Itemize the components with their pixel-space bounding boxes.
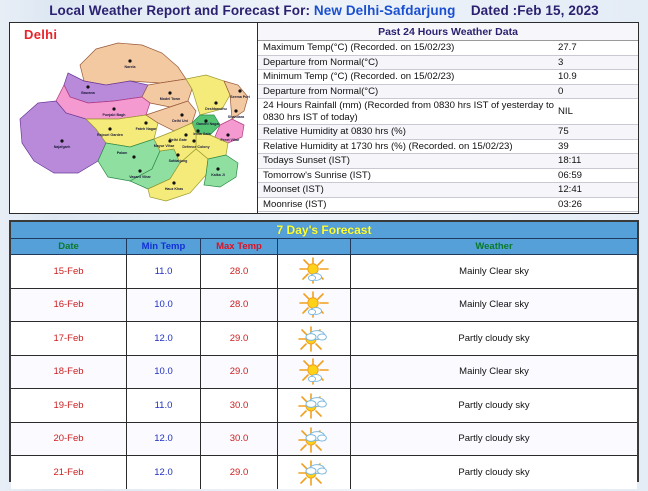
sun-cloud-icon (278, 322, 351, 355)
cell-max-temp: 28.0 (201, 255, 278, 288)
delhi-map-cell: Delhi (10, 23, 258, 213)
row-label: Maximum Temp(°C) (Recorded. on 15/02/23) (258, 41, 554, 55)
column-header-date: Date (11, 239, 127, 254)
cell-min-temp: 10.0 (127, 289, 201, 322)
cell-weather: Partly cloudy sky (351, 322, 637, 355)
row-label: Departure from Normal(°C) (258, 56, 554, 70)
row-value: 18:11 (554, 155, 638, 167)
row-label: Todays Sunset (IST) (258, 154, 554, 168)
table-row: 17-Feb 12.0 29.0 Partly cloudy sky (11, 322, 637, 356)
row-label: Moonset (IST) (258, 183, 554, 197)
row-value: 0 (554, 86, 638, 98)
cell-min-temp: 10.0 (127, 356, 201, 389)
sun-small-cloud-icon (278, 356, 351, 389)
cell-max-temp: 28.0 (201, 289, 278, 322)
svg-text:Kalka Ji: Kalka Ji (211, 173, 225, 177)
row-value: 39 (554, 141, 638, 153)
column-header-icon (278, 239, 351, 254)
table-row: 20-Feb 12.0 30.0 Partly cloudy sky (11, 423, 637, 457)
cell-date: 20-Feb (11, 423, 127, 456)
svg-text:Shahdara: Shahdara (228, 115, 245, 119)
sun-small-cloud-icon (278, 255, 351, 288)
forecast-header-row: Date Min Temp Max Temp Weather (11, 239, 637, 255)
cell-weather: Partly cloudy sky (351, 456, 637, 489)
svg-text:Rajouri Garden: Rajouri Garden (97, 133, 123, 137)
page-title-date: Dated :Feb 15, 2023 (471, 3, 599, 18)
row-value: 75 (554, 126, 638, 138)
table-row: 19-Feb 11.0 30.0 Partly cloudy sky (11, 389, 637, 423)
sun-cloud-icon (278, 389, 351, 422)
cell-max-temp: 30.0 (201, 423, 278, 456)
column-header-weather: Weather (351, 239, 637, 254)
row-label: Departure from Normal(°C) (258, 85, 554, 99)
cell-date: 16-Feb (11, 289, 127, 322)
svg-text:Narela: Narela (125, 65, 137, 69)
row-label: Moonrise (IST) (258, 198, 554, 212)
row-value: 27.7 (554, 42, 638, 54)
cell-max-temp: 30.0 (201, 389, 278, 422)
cell-weather: Mainly Clear sky (351, 289, 637, 322)
row-value: 03:26 (554, 199, 638, 211)
map-title: Delhi (24, 27, 57, 42)
cell-date: 21-Feb (11, 456, 127, 489)
past-24-hours-title: Past 24 Hours Weather Data (258, 23, 638, 41)
table-row: 24 Hours Rainfall (mm) (Recorded from 08… (258, 99, 638, 125)
cell-max-temp: 29.0 (201, 322, 278, 355)
page-title-station: New Delhi-Safdarjung (314, 3, 456, 18)
page-title-prefix: Local Weather Report and Forecast For: (49, 3, 310, 18)
table-row: Todays Sunset (IST)18:11 (258, 154, 638, 169)
svg-text:Punjabi Bagh: Punjabi Bagh (103, 113, 126, 117)
sun-cloud-icon (278, 456, 351, 489)
sun-small-cloud-icon (278, 289, 351, 322)
page-title: Local Weather Report and Forecast For: N… (0, 0, 648, 22)
seven-day-forecast-panel: 7 Day's Forecast Date Min Temp Max Temp … (9, 220, 639, 482)
cell-weather: Mainly Clear sky (351, 255, 637, 288)
table-row: Moonrise (IST)03:26 (258, 198, 638, 213)
svg-text:Vasant Vihar: Vasant Vihar (129, 175, 151, 179)
svg-text:Fateh Nagar: Fateh Nagar (136, 127, 157, 131)
row-value: NIL (554, 106, 638, 118)
row-label: Tomorrow's Sunrise (IST) (258, 169, 554, 183)
weather-report-page: Local Weather Report and Forecast For: N… (0, 0, 648, 491)
svg-text:Model Town: Model Town (160, 97, 181, 101)
cell-weather: Mainly Clear sky (351, 356, 637, 389)
svg-text:Preet Vihar: Preet Vihar (221, 138, 241, 142)
svg-text:Gandhi Nagar: Gandhi Nagar (196, 122, 220, 126)
svg-text:India Gate: India Gate (193, 132, 210, 136)
svg-text:Hauz Khas: Hauz Khas (165, 187, 183, 191)
cell-min-temp: 12.0 (127, 456, 201, 489)
sun-cloud-icon (278, 423, 351, 456)
past-24-hours-rows: Maximum Temp(°C) (Recorded. on 15/02/23)… (258, 41, 638, 212)
past-24-hours-table: Past 24 Hours Weather Data Maximum Temp(… (258, 23, 638, 213)
svg-text:Seema Puri: Seema Puri (230, 95, 250, 99)
forecast-rows: 15-Feb 11.0 28.0 Mainly Clear sky 16-Feb… (11, 255, 637, 489)
column-header-max-temp: Max Temp (201, 239, 278, 254)
table-row: Maximum Temp(°C) (Recorded. on 15/02/23)… (258, 41, 638, 56)
column-header-min-temp: Min Temp (127, 239, 201, 254)
cell-date: 17-Feb (11, 322, 127, 355)
table-row: Minimum Temp (°C) (Recorded. on 15/02/23… (258, 70, 638, 85)
svg-text:Najafgarh: Najafgarh (54, 145, 71, 149)
top-panel: Delhi (9, 22, 639, 214)
table-row: Relative Humidity at 1730 hrs (%) (Recor… (258, 140, 638, 155)
table-row: 18-Feb 10.0 29.0 Mainly Clear sky (11, 356, 637, 390)
cell-weather: Partly cloudy sky (351, 423, 637, 456)
cell-max-temp: 29.0 (201, 456, 278, 489)
table-row: Departure from Normal(°C)3 (258, 56, 638, 71)
svg-text:Delhi Uni: Delhi Uni (172, 119, 188, 123)
svg-text:Defence Colony: Defence Colony (182, 145, 209, 149)
svg-text:Bawana: Bawana (81, 91, 96, 95)
table-row: 21-Feb 12.0 29.0 Partly cloudy sky (11, 456, 637, 489)
svg-text:Deshbandhu: Deshbandhu (205, 107, 227, 111)
row-label: Relative Humidity at 0830 hrs (%) (258, 125, 554, 139)
svg-text:Delhi Gate: Delhi Gate (169, 138, 187, 142)
row-label: Minimum Temp (°C) (Recorded. on 15/02/23… (258, 70, 554, 84)
table-row: 16-Feb 10.0 28.0 Mainly Clear sky (11, 289, 637, 323)
table-row: Departure from Normal(°C)0 (258, 85, 638, 100)
svg-text:Palam: Palam (117, 151, 128, 155)
table-row: 15-Feb 11.0 28.0 Mainly Clear sky (11, 255, 637, 289)
table-row: Tomorrow's Sunrise (IST)06:59 (258, 169, 638, 184)
row-label: 24 Hours Rainfall (mm) (Recorded from 08… (258, 99, 554, 124)
svg-text:Mayur Vihar: Mayur Vihar (154, 144, 175, 148)
delhi-district-map: Narela Bawana Model Town Delhi Uni Punja… (10, 23, 258, 213)
row-value: 12:41 (554, 184, 638, 196)
row-value: 06:59 (554, 170, 638, 182)
cell-date: 18-Feb (11, 356, 127, 389)
row-value: 3 (554, 57, 638, 69)
svg-text:Safdarjung: Safdarjung (169, 159, 188, 163)
cell-min-temp: 12.0 (127, 322, 201, 355)
row-value: 10.9 (554, 71, 638, 83)
row-label: Relative Humidity at 1730 hrs (%) (Recor… (258, 140, 554, 154)
cell-weather: Partly cloudy sky (351, 389, 637, 422)
cell-min-temp: 12.0 (127, 423, 201, 456)
cell-date: 15-Feb (11, 255, 127, 288)
table-row: Moonset (IST)12:41 (258, 183, 638, 198)
cell-max-temp: 29.0 (201, 356, 278, 389)
table-row: Relative Humidity at 0830 hrs (%)75 (258, 125, 638, 140)
forecast-title: 7 Day's Forecast (11, 222, 637, 239)
cell-min-temp: 11.0 (127, 255, 201, 288)
cell-min-temp: 11.0 (127, 389, 201, 422)
cell-date: 19-Feb (11, 389, 127, 422)
